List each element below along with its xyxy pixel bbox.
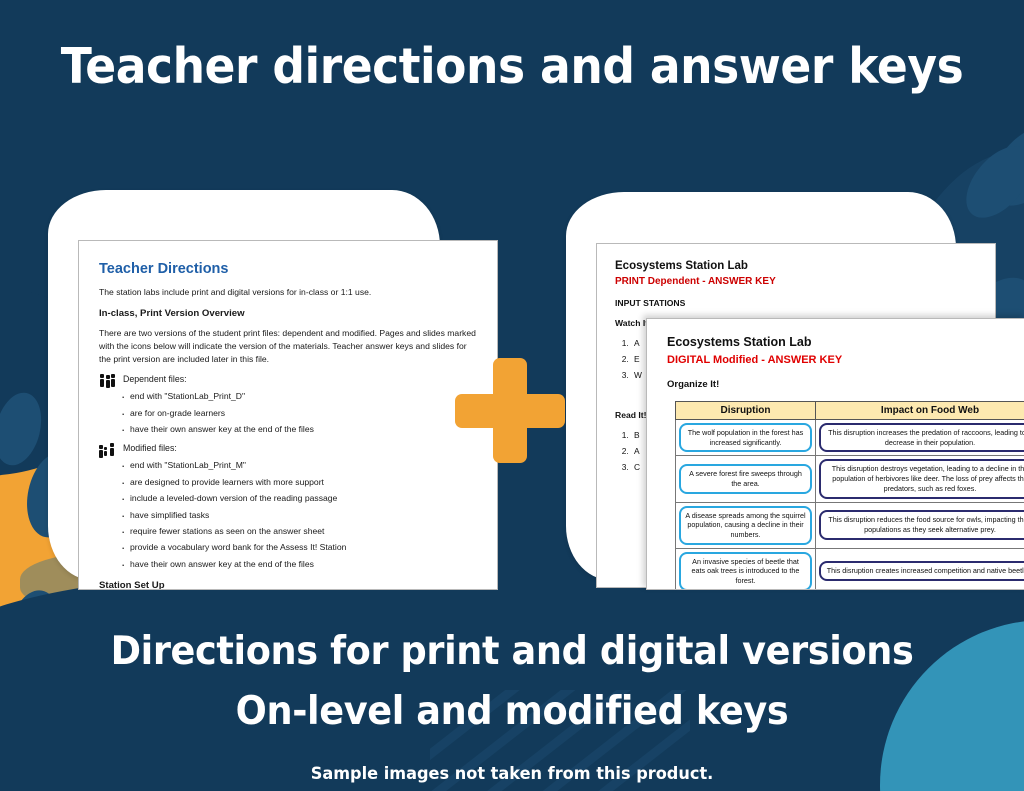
list-item: require fewer stations as seen on the an… [121, 525, 477, 538]
list-item: have their own answer key at the end of … [121, 423, 477, 436]
print-version-paragraph: There are two versions of the student pr… [99, 327, 477, 366]
navy-teardrop-decoration [0, 388, 48, 470]
table-row: A severe forest fire sweeps through the … [676, 456, 1024, 502]
disruption-cell: An invasive species of beetle that eats … [679, 552, 812, 590]
digital-modified-answer-key-sheet: Ecosystems Station Lab DIGITAL Modified … [646, 318, 1024, 590]
list-item: have their own answer key at the end of … [121, 558, 477, 571]
plus-icon [455, 358, 565, 463]
modified-files-list: end with "StationLab_Print_M" are design… [121, 459, 477, 570]
dependent-files-group: Dependent files: [99, 373, 477, 387]
front-doc-subtitle: DIGITAL Modified - ANSWER KEY [667, 354, 1005, 366]
impact-cell: This disruption destroys vegetation, lea… [819, 459, 1024, 498]
table-header-row: Disruption Impact on Food Web [676, 402, 1024, 420]
navy-ellipse-decoration [954, 134, 1024, 229]
impact-cell: This disruption reduces the food source … [819, 510, 1024, 539]
modified-learners-icon [99, 443, 115, 456]
back-doc-title: Ecosystems Station Lab [615, 260, 977, 272]
print-version-subheading: In-class, Print Version Overview [99, 307, 477, 321]
footer-line-2: On-level and modified keys [31, 682, 994, 742]
organize-it-label: Organize It! [667, 379, 1005, 390]
teacher-directions-intro: The station labs include print and digit… [99, 286, 477, 299]
list-item: include a leveled-down version of the re… [121, 492, 477, 505]
table-row: The wolf population in the forest has in… [676, 420, 1024, 456]
list-item: end with "StationLab_Print_D" [121, 390, 477, 403]
navy-ellipse-decoration [977, 113, 1024, 219]
list-item: provide a vocabulary word bank for the A… [121, 541, 477, 554]
impact-cell: This disruption creates increased compet… [819, 561, 1024, 581]
page-title: Teacher directions and answer keys [36, 38, 988, 95]
impact-cell: This disruption increases the predation … [819, 423, 1024, 452]
table-row: A disease spreads among the squirrel pop… [676, 502, 1024, 548]
list-item: are designed to provide learners with mo… [121, 476, 477, 489]
poster-canvas: Teacher directions and answer keys Teach… [0, 0, 1024, 791]
station-setup-heading: Station Set Up [99, 579, 477, 590]
organize-it-table: Disruption Impact on Food Web The wolf p… [675, 401, 1024, 590]
list-item: have simplified tasks [121, 509, 477, 522]
dependent-files-label: Dependent files: [123, 373, 187, 386]
footer-line-1: Directions for print and digital version… [31, 622, 994, 682]
modified-files-group: Modified files: [99, 442, 477, 456]
disruption-cell: A severe forest fire sweeps through the … [679, 464, 812, 493]
dependent-learners-icon [99, 374, 115, 387]
input-stations-label: INPUT STATIONS [615, 298, 977, 308]
column-header-disruption: Disruption [676, 402, 816, 420]
teacher-directions-heading: Teacher Directions [99, 259, 477, 281]
disruption-cell: A disease spreads among the squirrel pop… [679, 506, 812, 545]
dependent-files-list: end with "StationLab_Print_D" are for on… [121, 390, 477, 436]
front-doc-title: Ecosystems Station Lab [667, 335, 1005, 349]
disruption-cell: The wolf population in the forest has in… [679, 423, 812, 452]
back-doc-subtitle: PRINT Dependent - ANSWER KEY [615, 276, 977, 287]
list-item: are for on-grade learners [121, 407, 477, 420]
footer-block: Directions for print and digital version… [0, 622, 1024, 784]
column-header-impact: Impact on Food Web [816, 402, 1024, 420]
table-row: An invasive species of beetle that eats … [676, 548, 1024, 590]
teacher-directions-sheet: Teacher Directions The station labs incl… [78, 240, 498, 590]
footer-disclaimer: Sample images not taken from this produc… [26, 764, 999, 784]
modified-files-label: Modified files: [123, 442, 177, 455]
list-item: end with "StationLab_Print_M" [121, 459, 477, 472]
